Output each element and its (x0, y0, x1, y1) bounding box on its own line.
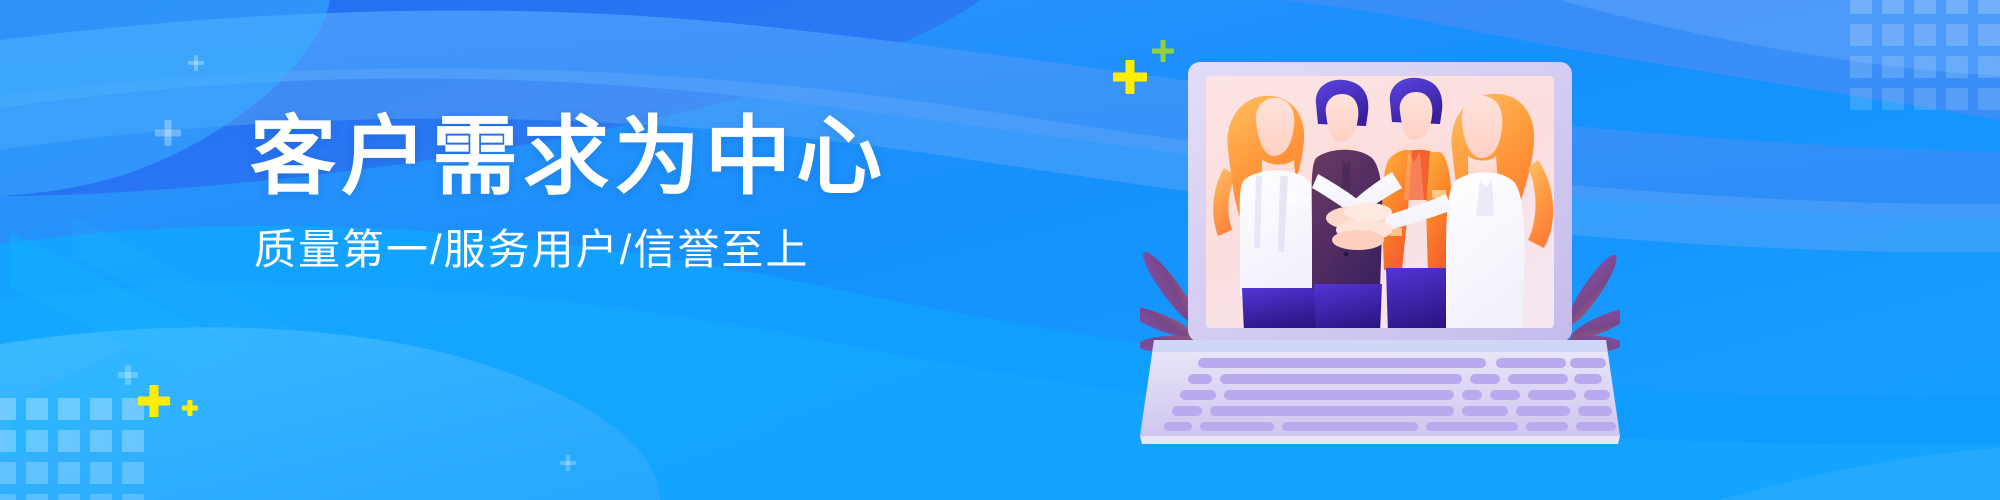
banner-text-block: 客户需求为中心 质量第一/服务用户/信誉至上 (250, 112, 950, 276)
laptop-base (1140, 340, 1620, 436)
teamwork-laptop-illustration (1140, 40, 1620, 460)
banner-subline: 质量第一/服务用户/信誉至上 (254, 225, 950, 275)
promo-banner: 客户需求为中心 质量第一/服务用户/信誉至上 (0, 0, 2000, 500)
banner-headline: 客户需求为中心 (250, 112, 950, 203)
stacked-hands (1326, 203, 1392, 250)
